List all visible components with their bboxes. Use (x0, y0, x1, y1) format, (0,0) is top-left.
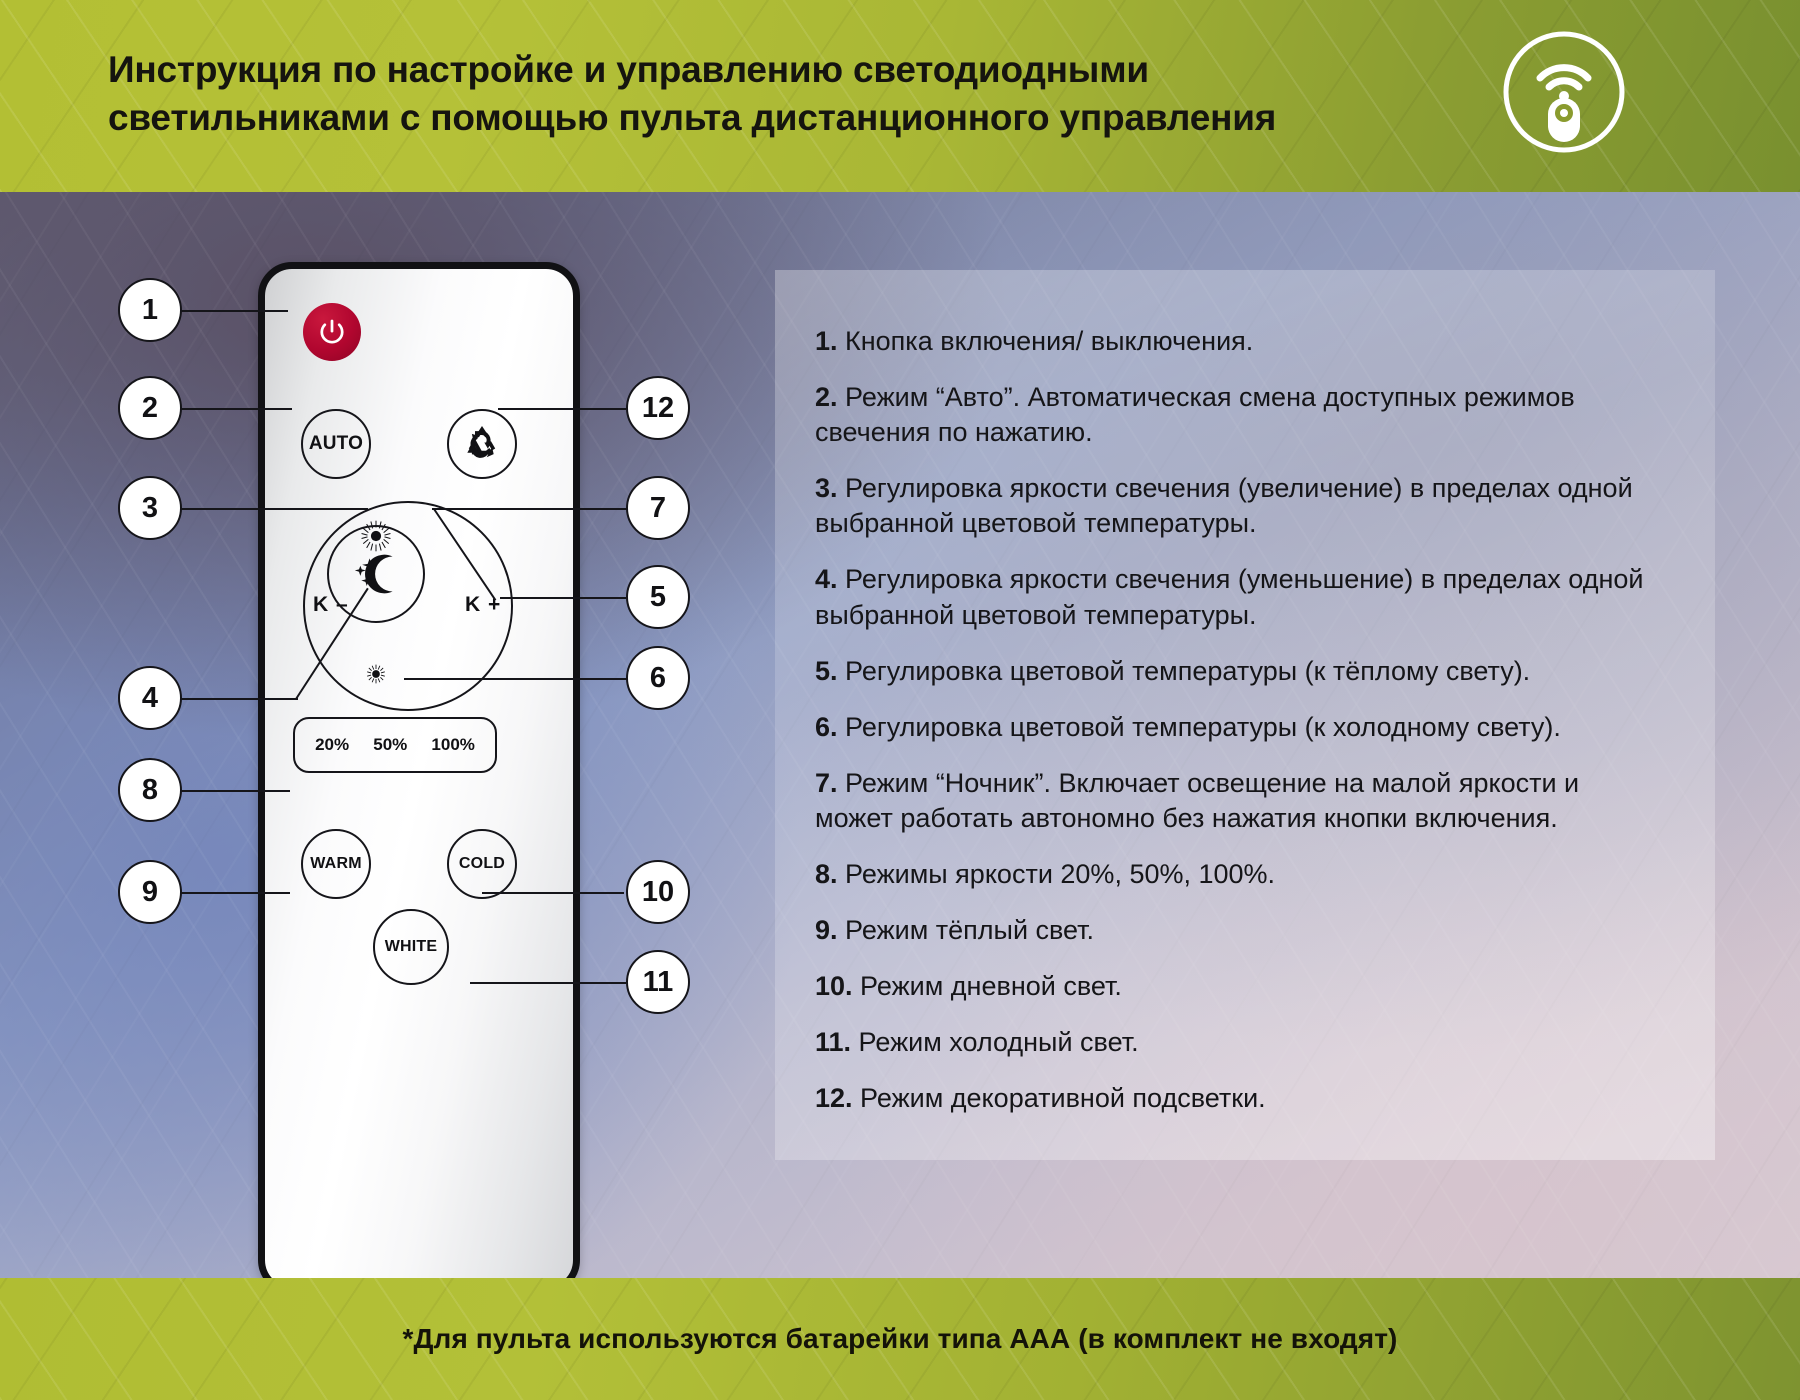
callout-1[interactable]: 1 (118, 278, 182, 342)
legend-item: 5. Регулировка цветовой температуры (к т… (815, 654, 1657, 689)
power-button[interactable] (303, 303, 361, 361)
callout-10[interactable]: 10 (626, 860, 690, 924)
leader-line-8 (168, 790, 290, 792)
leader-line-5 (500, 597, 626, 599)
auto-button-label: AUTO (309, 433, 363, 455)
legend-item-number: 1. (815, 326, 845, 356)
remote-control-signal-icon (1498, 26, 1630, 158)
legend-panel: 1. Кнопка включения/ выключения.2. Режим… (775, 270, 1715, 1160)
callout-11-number: 11 (643, 966, 674, 999)
leader-line-11 (470, 982, 626, 984)
legend-item-number: 6. (815, 712, 845, 742)
leader-line-9 (168, 892, 290, 894)
callout-6-number: 6 (650, 662, 666, 695)
legend-item-number: 12. (815, 1083, 860, 1113)
callout-9-number: 9 (142, 876, 158, 909)
legend-item: 7. Режим “Ночник”. Включает освещение на… (815, 766, 1657, 836)
legend-item: 3. Регулировка яркости свечения (увеличе… (815, 471, 1657, 541)
legend-item-number: 5. (815, 656, 845, 686)
legend-item: 10. Режим дневной свет. (815, 969, 1657, 1004)
legend-item-text: Регулировка яркости свечения (уменьшение… (815, 564, 1644, 629)
brightness-preset-50[interactable]: 50% (373, 735, 407, 755)
leader-line-12 (498, 408, 626, 410)
page-title-line-2: светильниками с помощью пульта дистанцио… (108, 94, 1408, 142)
leader-line-1 (168, 310, 288, 312)
callout-4[interactable]: 4 (118, 666, 182, 730)
callout-2-number: 2 (142, 392, 158, 425)
callout-8[interactable]: 8 (118, 758, 182, 822)
legend-item: 6. Регулировка цветовой температуры (к х… (815, 710, 1657, 745)
callout-6[interactable]: 6 (626, 646, 690, 710)
callout-2[interactable]: 2 (118, 376, 182, 440)
brightness-presets-bar[interactable]: 20% 50% 100% (293, 717, 497, 773)
callout-5-number: 5 (650, 581, 666, 614)
callout-1-number: 1 (142, 294, 158, 327)
brightness-preset-20[interactable]: 20% (315, 735, 349, 755)
callout-8-number: 8 (142, 774, 158, 807)
legend-item: 9. Режим тёплый свет. (815, 913, 1657, 948)
callout-3-number: 3 (142, 492, 158, 525)
leader-line-6 (404, 678, 628, 680)
infographic-page: Инструкция по настройке и управлению све… (0, 0, 1800, 1400)
callout-10-number: 10 (642, 876, 674, 909)
legend-item-text: Регулировка яркости свечения (увеличение… (815, 473, 1633, 538)
callout-3[interactable]: 3 (118, 476, 182, 540)
brightness-down-sun-icon[interactable] (365, 663, 387, 685)
leader-line-3 (168, 508, 368, 510)
recycle-loop-icon (461, 423, 503, 465)
callout-9[interactable]: 9 (118, 860, 182, 924)
cold-light-button[interactable]: COLD (447, 829, 517, 899)
legend-item: 2. Режим “Авто”. Автоматическая смена до… (815, 380, 1657, 450)
legend-item: 4. Регулировка яркости свечения (уменьше… (815, 562, 1657, 632)
page-title: Инструкция по настройке и управлению све… (108, 46, 1408, 142)
legend-item-text: Режим “Ночник”. Включает освещение на ма… (815, 768, 1579, 833)
legend-item-text: Режим дневной свет. (860, 971, 1122, 1001)
legend-item-text: Регулировка цветовой температуры (к холо… (845, 712, 1561, 742)
callout-12-number: 12 (642, 392, 674, 425)
legend-item-number: 3. (815, 473, 845, 503)
callout-11[interactable]: 11 (626, 950, 690, 1014)
callout-7-number: 7 (650, 492, 666, 525)
legend-item-text: Режим холодный свет. (859, 1027, 1139, 1057)
leader-line-7 (432, 508, 628, 510)
legend-item-text: Режим декоративной подсветки. (860, 1083, 1266, 1113)
legend-item-text: Режим “Авто”. Автоматическая смена досту… (815, 382, 1575, 447)
color-temp-minus-label[interactable]: K – (313, 593, 349, 617)
legend-item: 8. Режимы яркости 20%, 50%, 100%. (815, 857, 1657, 892)
auto-button[interactable]: AUTO (301, 409, 371, 479)
legend-item: 11. Режим холодный свет. (815, 1025, 1657, 1060)
legend-item: 12. Режим декоративной подсветки. (815, 1081, 1657, 1116)
leader-line-10 (482, 892, 624, 894)
legend-item: 1. Кнопка включения/ выключения. (815, 324, 1657, 359)
page-title-line-1: Инструкция по настройке и управлению све… (108, 46, 1408, 94)
legend-item-text: Режимы яркости 20%, 50%, 100%. (845, 859, 1275, 889)
moon-stars-icon (348, 551, 404, 597)
white-light-button[interactable]: WHITE (373, 909, 449, 985)
warm-button-label: WARM (310, 855, 361, 873)
legend-item-text: Регулировка цветовой температуры (к тёпл… (845, 656, 1530, 686)
leader-line-2 (168, 408, 292, 410)
remote-control-device: AUTO (258, 262, 580, 1294)
decor-loop-button[interactable] (447, 409, 517, 479)
legend-item-text: Кнопка включения/ выключения. (845, 326, 1253, 356)
battery-note: *Для пульта используются батарейки типа … (403, 1323, 1398, 1355)
white-button-label: WHITE (385, 938, 438, 956)
legend-item-number: 2. (815, 382, 845, 412)
legend-item-number: 8. (815, 859, 845, 889)
brightness-preset-100[interactable]: 100% (431, 735, 474, 755)
color-temp-plus-label[interactable]: K + (465, 593, 501, 617)
page-footer: *Для пульта используются батарейки типа … (0, 1278, 1800, 1400)
legend-item-number: 7. (815, 768, 845, 798)
legend-item-number: 10. (815, 971, 860, 1001)
warm-light-button[interactable]: WARM (301, 829, 371, 899)
legend-item-text: Режим тёплый свет. (845, 915, 1094, 945)
legend-list: 1. Кнопка включения/ выключения.2. Режим… (815, 324, 1657, 1117)
leader-line-4 (168, 698, 298, 700)
legend-item-number: 9. (815, 915, 845, 945)
legend-item-number: 11. (815, 1027, 859, 1057)
page-header: Инструкция по настройке и управлению све… (0, 0, 1800, 192)
legend-item-number: 4. (815, 564, 845, 594)
callout-7[interactable]: 7 (626, 476, 690, 540)
cold-button-label: COLD (459, 855, 505, 873)
power-icon (315, 315, 349, 349)
callout-4-number: 4 (142, 682, 158, 715)
callout-5[interactable]: 5 (626, 565, 690, 629)
callout-12[interactable]: 12 (626, 376, 690, 440)
